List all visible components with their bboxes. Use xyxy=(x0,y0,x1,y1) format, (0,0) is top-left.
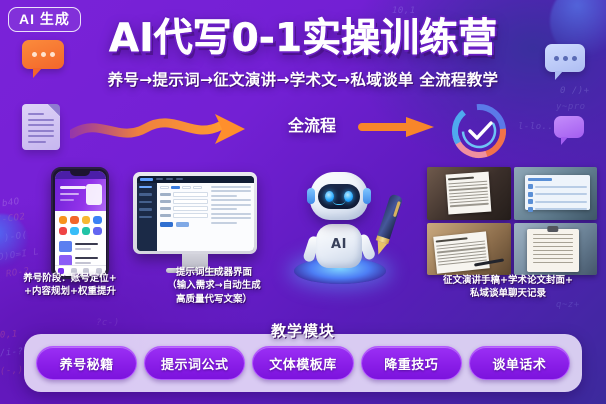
chat-card xyxy=(525,175,590,210)
app-top-bar xyxy=(137,176,254,183)
phone-banner xyxy=(55,179,106,211)
speech-bubble-icon-violet xyxy=(554,116,584,138)
app-content xyxy=(157,183,254,251)
app-form-panel xyxy=(160,186,209,248)
caption-photos: 征文演讲手稿+学术论文封面+ 私域谈单聊天记录 xyxy=(414,274,602,301)
sample-photo-grid xyxy=(427,167,597,275)
monitor-screen xyxy=(137,176,254,251)
code-decor-text: O)O=I L xyxy=(0,247,40,263)
robot-ear-left xyxy=(307,188,315,204)
module-pill-plagiarism-reduction[interactable]: 降重技巧 xyxy=(361,346,462,380)
photo-chat-screenshot xyxy=(514,167,598,220)
paper-sheet xyxy=(434,231,491,273)
page-subtitle: 养号→提示词→征文演讲→学术文→私域谈单 全流程教学 xyxy=(0,68,606,90)
headline-block: AI代写0-1实操训练营 养号→提示词→征文演讲→学术文→私域谈单 全流程教学 xyxy=(0,18,606,90)
modules-section-title: 教学模块 xyxy=(0,320,606,341)
fountain-pen-icon xyxy=(372,194,404,257)
flow-label: 全流程 xyxy=(288,112,336,136)
glow-blob-left xyxy=(0,214,28,268)
robot-smile xyxy=(333,200,346,205)
desktop-monitor-mockup xyxy=(133,172,257,280)
phone-notch xyxy=(70,171,90,176)
photo-desk-document xyxy=(427,223,511,276)
process-flow-row: 全流程 xyxy=(70,104,510,156)
robot-chest-label: AI xyxy=(331,237,347,252)
code-decor-text: //i-? xyxy=(0,347,24,359)
code-decor-text: {-CO2 xyxy=(0,212,26,226)
phone-screen xyxy=(55,171,106,276)
phone-mockup xyxy=(51,167,109,279)
module-pill-sales-script[interactable]: 谈单话术 xyxy=(469,346,570,380)
module-pill-prompt-formula[interactable]: 提示词公式 xyxy=(144,346,245,380)
list-item xyxy=(59,241,102,252)
code-decor-text: q~z+ xyxy=(556,300,580,310)
robot-body: AI xyxy=(316,224,362,268)
code-decor-text: y~pro xyxy=(556,102,586,112)
monitor-body xyxy=(133,172,257,254)
code-decor-text: 10,1 xyxy=(392,6,416,16)
photo-handheld-manuscript xyxy=(427,167,511,220)
code-decor-text: (-,) xyxy=(0,365,24,377)
robot-face-visor xyxy=(318,184,360,209)
module-pill-template-library[interactable]: 文体模板库 xyxy=(252,346,353,380)
page-title: AI代写0-1实操训练营 xyxy=(109,18,497,59)
robot-ear-right xyxy=(363,188,371,204)
clipboard xyxy=(527,229,579,272)
document-icon-lines xyxy=(28,113,54,146)
robot-head xyxy=(310,172,368,220)
photo-clipboard-laptop xyxy=(514,223,598,276)
modules-panel: 养号秘籍 提示词公式 文体模板库 降重技巧 谈单话术 xyxy=(24,334,582,392)
poster-canvas: b4O {-CO2 )-O( O)O=I L RO-2 0,1 //i-? (-… xyxy=(0,0,606,404)
arrow-right-icon xyxy=(358,116,436,138)
module-pill-yanghao[interactable]: 养号秘籍 xyxy=(36,346,137,380)
caption-monitor: 提示词生成器界面 （输入需求→自动生成 高质量代写文案） xyxy=(139,266,289,306)
app-main-area xyxy=(137,183,254,251)
swoosh-arrow-icon xyxy=(70,110,260,150)
app-sidebar xyxy=(137,183,157,251)
code-decor-text: l-lo.. xyxy=(518,122,554,132)
code-decor-text: b4O xyxy=(1,197,20,209)
app-result-panel xyxy=(211,186,250,248)
code-decor-text: )-O( xyxy=(3,230,28,243)
phone-icon-grid xyxy=(55,211,106,239)
caption-phone: 养号阶段：账号定位+ +内容规划+权重提升 xyxy=(2,272,138,299)
paper-sheet xyxy=(446,172,492,215)
ai-robot-mascot: AI xyxy=(288,166,392,284)
document-icon xyxy=(22,104,60,150)
progress-check-icon xyxy=(448,100,510,162)
